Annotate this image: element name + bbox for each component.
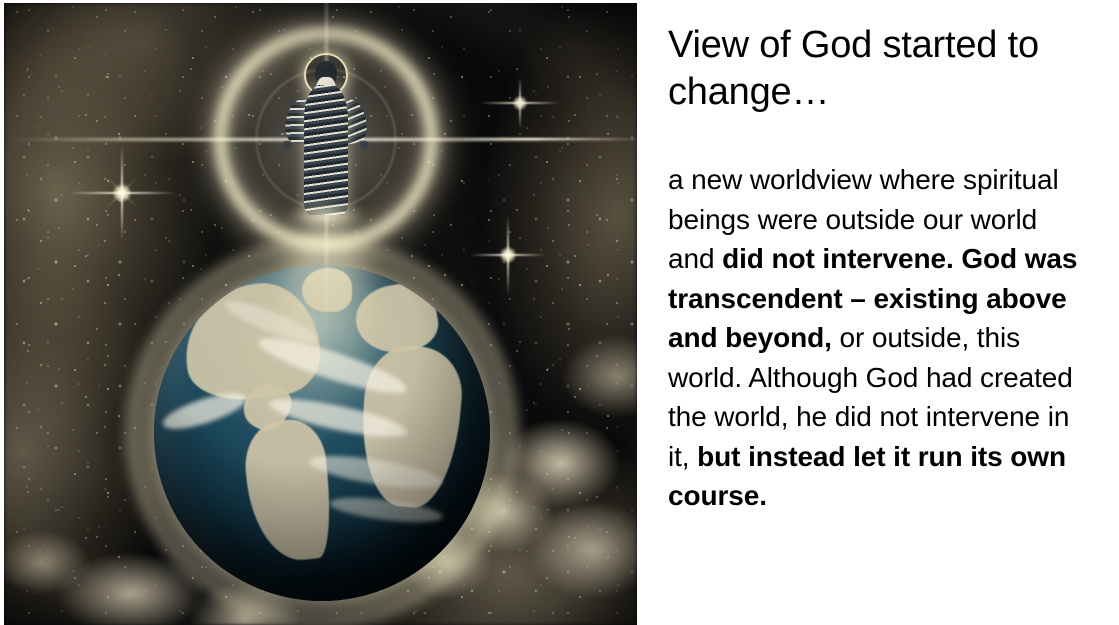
illustration-image xyxy=(4,3,637,625)
text-column: View of God started to change… a new wor… xyxy=(668,0,1100,625)
slide-body-text: a new worldview where spiritual beings w… xyxy=(668,160,1086,516)
slide-title: View of God started to change… xyxy=(668,22,1088,116)
body-text-bold-run: but instead let it run its own course. xyxy=(668,441,1066,512)
slide: View of God started to change… a new wor… xyxy=(0,0,1119,625)
vignette xyxy=(4,3,637,625)
